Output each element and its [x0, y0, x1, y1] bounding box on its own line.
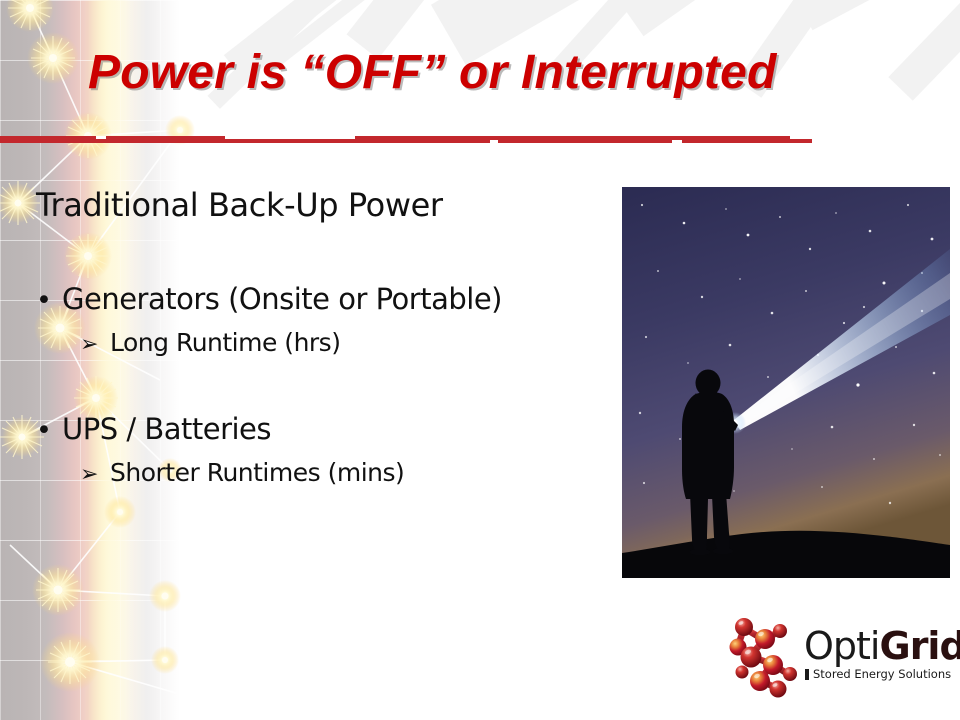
logo-name-light: Opti	[804, 624, 880, 668]
optigrid-logo: OptiGrid Stored Energy Solutions	[728, 610, 943, 702]
bullet-item: • Generators (Onsite or Portable)	[36, 282, 502, 316]
arrow-bullet-icon: ➢	[80, 464, 110, 486]
sub-bullet-item: ➢ Long Runtime (hrs)	[80, 328, 340, 357]
molecule-cluster-icon	[728, 612, 806, 700]
bullet-label: UPS / Batteries	[62, 412, 271, 446]
sub-bullet-label: Shorter Runtimes (mins)	[110, 458, 404, 487]
bullet-label: Generators (Onsite or Portable)	[62, 282, 502, 316]
logo-wordmark: OptiGrid Stored Energy Solutions	[804, 626, 960, 681]
tagline-bar-icon	[805, 669, 809, 680]
bullet-dot-icon: •	[36, 417, 62, 444]
section-heading: Traditional Back-Up Power	[36, 186, 443, 224]
logo-tagline-row: Stored Energy Solutions	[805, 667, 960, 681]
logo-name-bold: Grid	[880, 624, 960, 668]
logo-name: OptiGrid	[804, 626, 960, 666]
bullet-dot-icon: •	[36, 287, 62, 314]
bullet-item: • UPS / Batteries	[36, 412, 271, 446]
arrow-bullet-icon: ➢	[80, 334, 110, 356]
constellation-network-graphic	[0, 0, 230, 720]
logo-tagline: Stored Energy Solutions	[813, 667, 951, 681]
sub-bullet-item: ➢ Shorter Runtimes (mins)	[80, 458, 404, 487]
slide-canvas: Power is “OFF” or Interrupted Traditiona…	[0, 0, 960, 720]
title-divider-rule	[0, 136, 812, 143]
slide-title: Power is “OFF” or Interrupted	[88, 44, 888, 102]
night-sky-flashlight-photo	[622, 187, 950, 578]
sub-bullet-label: Long Runtime (hrs)	[110, 328, 340, 357]
